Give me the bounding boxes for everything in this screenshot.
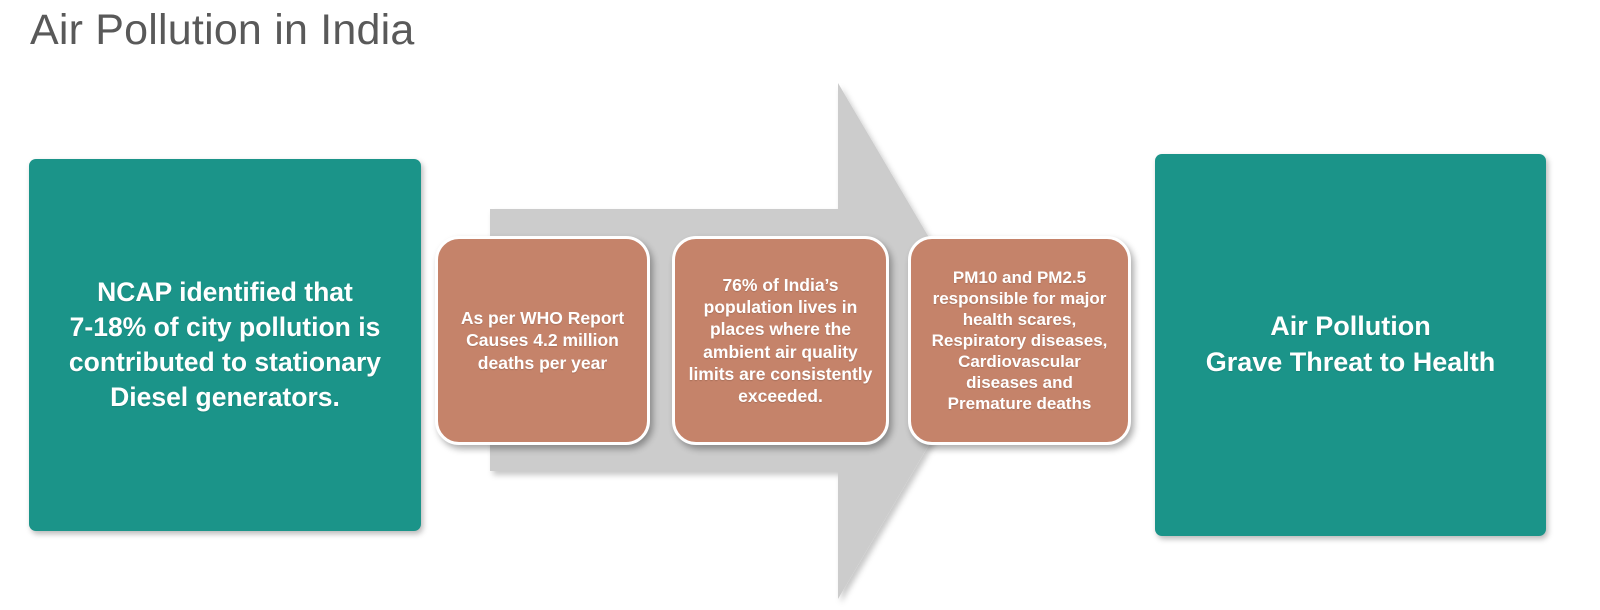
summary-card-left[interactable]: NCAP identified that 7-18% of city pollu…: [29, 159, 421, 531]
summary-card-right-text: Air Pollution Grave Threat to Health: [1188, 309, 1514, 380]
step-card-1-text: As per WHO Report Causes 4.2 million dea…: [453, 307, 632, 373]
step-card-3-text: PM10 and PM2.5 responsible for major hea…: [924, 267, 1116, 415]
slide-canvas: Air Pollution in India NCAP identified t…: [0, 0, 1600, 610]
step-card-1[interactable]: As per WHO Report Causes 4.2 million dea…: [435, 236, 650, 445]
step-card-2-text: 76% of India’s population lives in place…: [681, 274, 881, 406]
page-title: Air Pollution in India: [30, 6, 930, 55]
summary-card-right[interactable]: Air Pollution Grave Threat to Health: [1155, 154, 1546, 536]
step-card-3[interactable]: PM10 and PM2.5 responsible for major hea…: [908, 236, 1131, 445]
step-card-2[interactable]: 76% of India’s population lives in place…: [672, 236, 889, 445]
summary-card-left-text: NCAP identified that 7-18% of city pollu…: [51, 275, 399, 415]
